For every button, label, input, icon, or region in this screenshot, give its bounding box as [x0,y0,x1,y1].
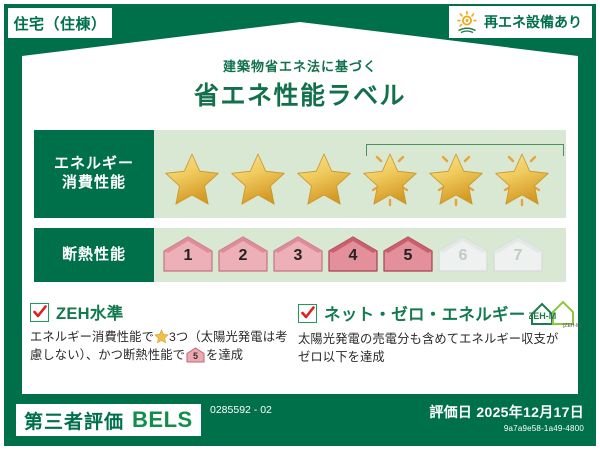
insulation-label-text: 断熱性能 [62,246,126,265]
insulation-level-2: 2 [217,235,269,275]
bels-en-label: BELS [132,407,193,433]
star-plain [226,146,290,208]
insulation-level-7: 7 [492,235,544,275]
bels-badge: 第三者評価 BELS [16,404,201,436]
insulation-level-scale: 1 2 3 4 5 6 7 [154,235,544,275]
bels-number: 0285592 - 02 [210,404,280,417]
insulation-level-4: 4 [327,235,379,275]
star-solar [490,146,554,208]
zeh-desc-part3: を達成 [206,348,243,362]
footer-right: 評価日 2025年12月17日 9a7a9e58-1a49-4800 [429,402,584,433]
title-subtitle: 建築物省エネ法に基づく [0,56,600,75]
insulation-level-1: 1 [162,235,214,275]
sun-solar-icon [455,10,479,34]
criteria-zeh: ZEH水準 エネルギー消費性能で3つ（太陽光発電は考慮しない）、かつ断熱性能で5… [30,300,298,367]
energy-label-line2: 消費性能 [62,174,126,193]
insulation-level-6: 6 [437,235,489,275]
document-uuid: 9a7a9e58-1a49-4800 [429,424,584,433]
insulation-performance-row: 断熱性能 1 2 3 4 5 6 [34,228,566,282]
star-icon [154,329,169,344]
net-zero-checkbox-checked-icon [298,304,317,323]
net-zero-description: 太陽光発電の売電分も含めてエネルギー収支がゼロ以下を達成 [298,331,562,367]
zeh-description: エネルギー消費性能で3つ（太陽光発電は考慮しない）、かつ断熱性能で5を達成 [30,329,290,365]
zeh-checkbox-checked-icon [30,303,49,322]
zeh-heading: ZEH水準 [30,300,290,324]
net-zero-title: ネット・ゼロ・エネルギー [324,301,526,325]
energy-label-line1: エネルギー [54,155,134,174]
page-title: 省エネ性能ラベル [0,76,600,112]
star-solar [424,146,488,208]
solar-portion-label: 太陽光発電(自家消費)分 [563,143,600,157]
criteria-section: ZEH水準 エネルギー消費性能で3つ（太陽光発電は考慮しない）、かつ断熱性能で5… [30,300,570,367]
renewable-equipment-label: 再エネ設備あり [484,12,582,32]
insulation-level-value: 2 [217,247,269,265]
insulation-badges-panel: 1 2 3 4 5 6 7 [154,228,566,282]
evaluation-date: 評価日 2025年12月17日 [429,402,584,422]
insulation-level-value: 1 [162,247,214,265]
renewable-equipment-tag: 再エネ設備あり [449,6,592,38]
zeh-desc-part1: エネルギー消費性能で [30,330,154,344]
insulation-level-value: 3 [272,247,324,265]
insulation-level-value: 6 [437,247,489,265]
insulation-badge-value: 5 [186,350,205,363]
star-rating [154,146,554,208]
insulation-performance-label: 断熱性能 [34,228,154,282]
net-zero-heading: ネット・ゼロ・エネルギー ZEH-M [ZEH-M] [298,300,562,326]
star-plain [292,146,356,208]
insulation-badge-icon: 5 [186,347,205,363]
building-type-tag: 住宅（住棟） [8,8,112,38]
insulation-level-value: 4 [327,247,379,265]
criteria-net-zero: ネット・ゼロ・エネルギー ZEH-M [ZEH-M] 太陽光発電の売電分も含めて… [298,300,570,367]
footer: 第三者評価 BELS 0285592 - 02 評価日 2025年12月17日 … [4,398,596,446]
energy-label-root: 住宅（住棟） 再エネ設備あり 建築物省エネ法に基づく 省エネ性能ラベル [0,0,600,450]
insulation-level-3: 3 [272,235,324,275]
insulation-level-value: 7 [492,247,544,265]
zeh-m-caption: [ZEH-M] [563,323,582,329]
insulation-level-value: 5 [382,247,434,265]
star-plain [160,146,224,208]
zeh-title: ZEH水準 [56,300,124,324]
energy-performance-row: エネルギー 消費性能 太陽光発電(自家消費)分 [34,130,566,218]
insulation-level-5: 5 [382,235,434,275]
zeh-m-house-logo-icon: ZEH-M [ZEH-M] [529,300,579,326]
svg-text:ZEH-M: ZEH-M [529,311,556,321]
energy-performance-label: エネルギー 消費性能 [34,130,154,218]
bels-jp-label: 第三者評価 [24,407,124,434]
star-solar [358,146,422,208]
energy-stars-panel: 太陽光発電(自家消費)分 [154,130,566,218]
